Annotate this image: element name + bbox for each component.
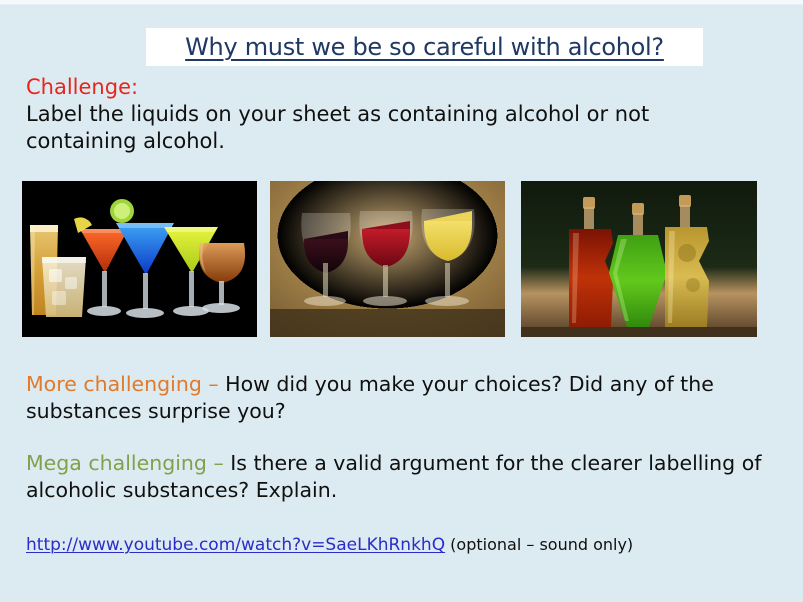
more-challenging-block: More challenging – How did you make your… bbox=[26, 371, 756, 424]
page-title: Why must we be so careful with alcohol? bbox=[185, 33, 664, 61]
mega-challenging-lead: Mega challenging – bbox=[26, 451, 230, 475]
more-challenging-lead: More challenging – bbox=[26, 372, 225, 396]
title-banner: Why must we be so careful with alcohol? bbox=[146, 28, 703, 66]
cocktails-photo bbox=[22, 181, 257, 337]
challenge-label: Challenge: bbox=[26, 74, 138, 101]
link-note: (optional – sound only) bbox=[445, 535, 633, 554]
link-line: http://www.youtube.com/watch?v=SaeLKhRnk… bbox=[26, 534, 633, 556]
wine-glasses-photo bbox=[270, 181, 505, 337]
bottles-photo bbox=[521, 181, 757, 337]
slide-canvas: Why must we be so careful with alcohol? … bbox=[0, 0, 803, 602]
youtube-link[interactable]: http://www.youtube.com/watch?v=SaeLKhRnk… bbox=[26, 535, 445, 555]
slide-top-strip bbox=[0, 0, 803, 5]
mega-challenging-block: Mega challenging – Is there a valid argu… bbox=[26, 450, 786, 503]
challenge-body-text: Label the liquids on your sheet as conta… bbox=[26, 101, 766, 156]
